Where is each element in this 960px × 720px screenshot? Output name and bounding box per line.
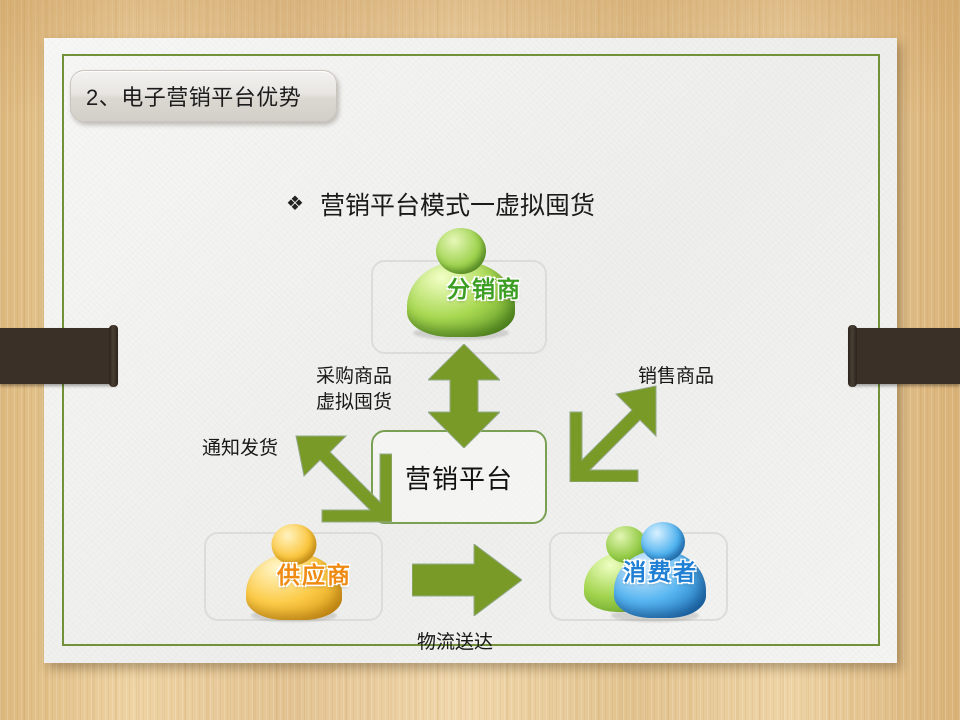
decorative-ribbon-left (0, 328, 116, 384)
flow-label-logistics: 物流送达 (417, 630, 493, 656)
diamond-bullet-icon: ❖ (286, 194, 304, 214)
ribbon-cap-right (848, 325, 857, 387)
section-heading: ❖ 营销平台模式一虚拟囤货 (286, 186, 595, 222)
flow-label-purchase-line2: 虚拟囤货 (316, 390, 392, 416)
ribbon-cap-left (109, 325, 118, 387)
flow-label-purchase: 采购商品 虚拟囤货 (316, 364, 392, 416)
flow-label-purchase-line1: 采购商品 (316, 364, 392, 390)
slide-title-text: 2、电子营销平台优势 (71, 80, 301, 112)
decorative-ribbon-right (850, 328, 960, 384)
slide-title-pill[interactable]: 2、电子营销平台优势 (70, 70, 337, 122)
section-heading-text: 营销平台模式一虚拟囤货 (320, 186, 595, 222)
node-supplier[interactable] (204, 532, 383, 621)
node-consumer[interactable] (549, 532, 728, 621)
node-platform[interactable]: 营销平台 (371, 430, 547, 524)
flow-label-notify: 通知发货 (202, 436, 278, 462)
node-distributor[interactable] (371, 260, 547, 354)
node-platform-label: 营销平台 (405, 459, 513, 496)
flow-label-sell: 销售商品 (638, 364, 714, 390)
